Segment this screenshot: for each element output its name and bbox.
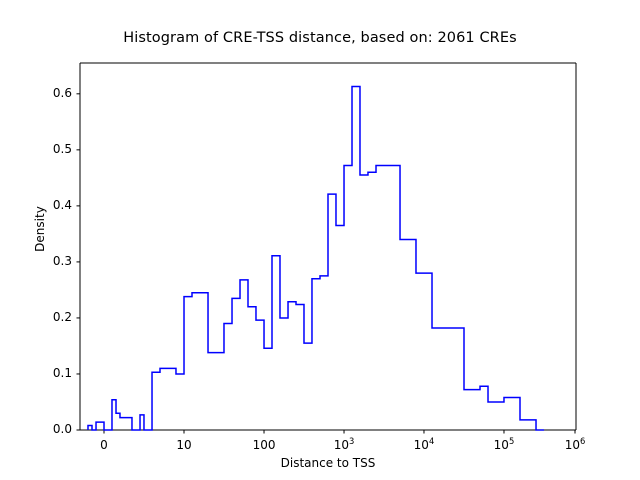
x-tick-mantissa: 10	[176, 438, 191, 452]
y-tick-label: 0.2	[28, 310, 72, 324]
y-tick-label: 0.3	[28, 254, 72, 268]
figure-canvas: Histogram of CRE-TSS distance, based on:…	[0, 0, 640, 480]
x-tick-label: 100	[234, 438, 294, 452]
x-tick-mantissa: 100	[253, 438, 276, 452]
x-tick-label: 105	[474, 438, 534, 452]
y-tick-label: 0.5	[28, 142, 72, 156]
histogram-plot	[0, 0, 640, 480]
x-tick-label: 10	[154, 438, 214, 452]
x-tick-label: 0	[74, 438, 134, 452]
x-tick-mantissa: 10	[565, 438, 580, 452]
x-tick-exponent: 6	[580, 436, 585, 446]
x-tick-mantissa: 10	[334, 438, 349, 452]
x-tick-exponent: 4	[429, 436, 434, 446]
x-tick-mantissa: 0	[100, 438, 108, 452]
x-tick-mantissa: 10	[494, 438, 509, 452]
x-tick-label: 106	[545, 438, 605, 452]
y-tick-label: 0.6	[28, 86, 72, 100]
x-tick-label: 103	[314, 438, 374, 452]
y-tick-label: 0.4	[28, 198, 72, 212]
x-tick-exponent: 3	[349, 436, 354, 446]
histogram-step-line	[88, 87, 544, 430]
y-tick-label: 0.0	[28, 422, 72, 436]
y-tick-label: 0.1	[28, 366, 72, 380]
x-tick-label: 104	[394, 438, 454, 452]
x-tick-mantissa: 10	[414, 438, 429, 452]
x-tick-exponent: 5	[509, 436, 514, 446]
